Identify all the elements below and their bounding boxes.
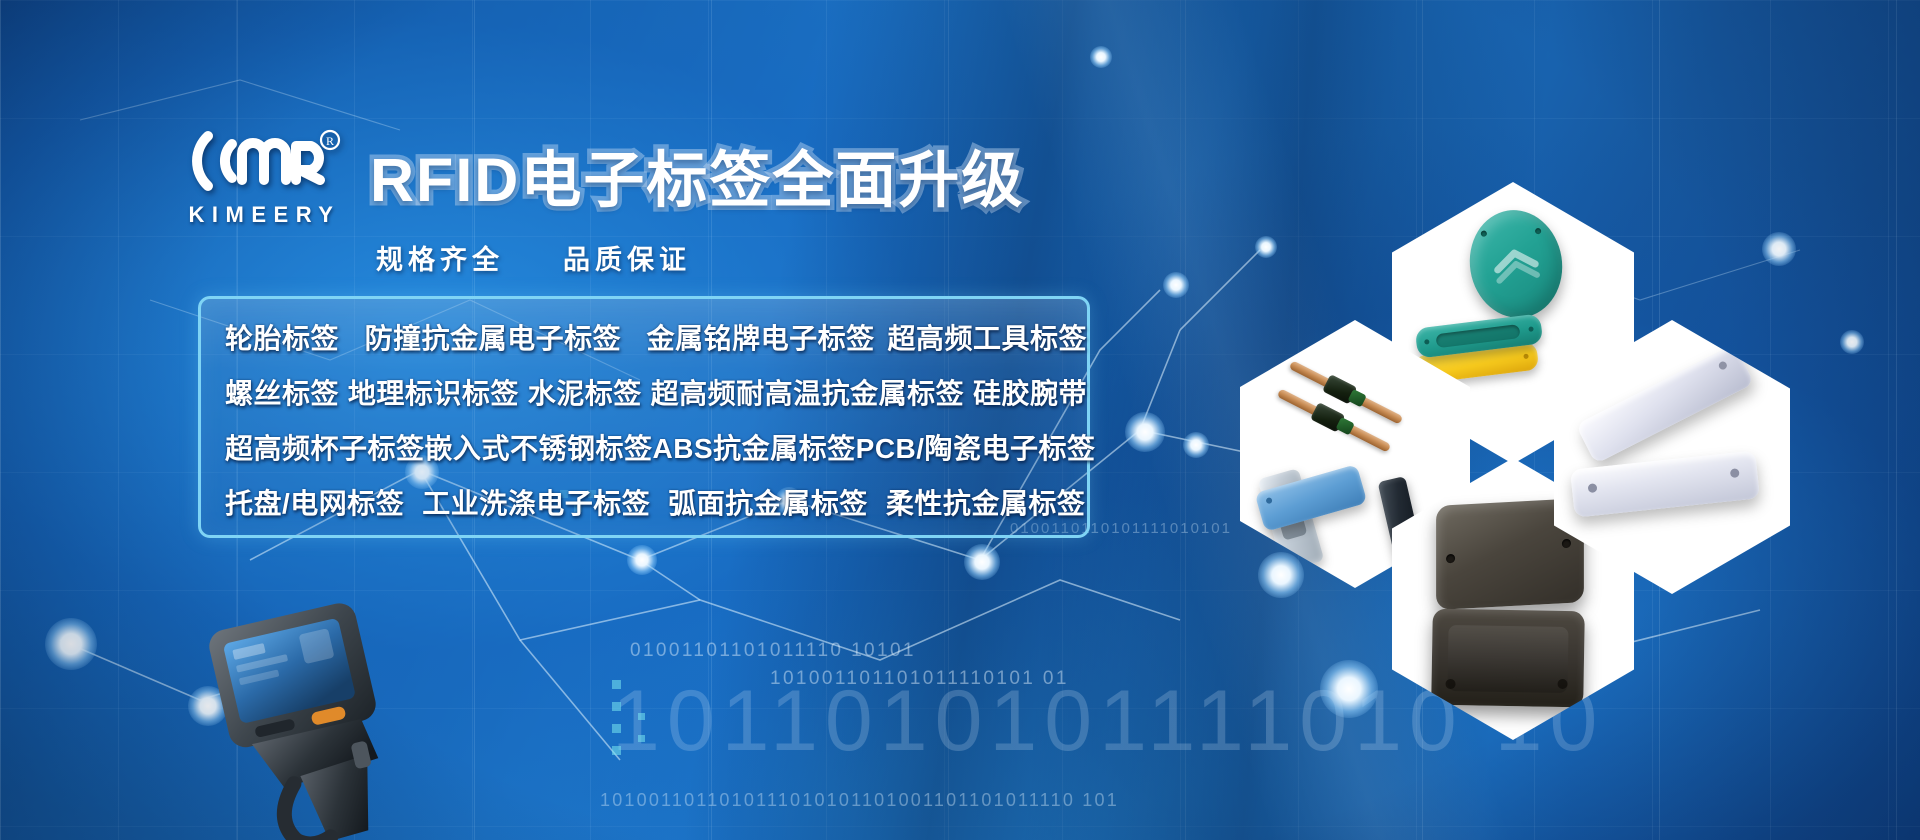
glass-tube-tag <box>1289 360 1404 424</box>
kimeery-wave-logo-icon: R <box>180 124 345 198</box>
tag-item: 硅胶腕带 <box>973 372 1087 412</box>
chevron-up-icon <box>1491 244 1542 285</box>
tag-row: 螺丝标签 地理标识标签 水泥标签 超高频耐高温抗金属标签 硅胶腕带 <box>201 364 1087 419</box>
registered-mark-icon: R <box>321 131 339 149</box>
page-title: RFID电子标签全面升级 <box>370 130 1024 219</box>
teal-round-tag <box>1462 203 1570 324</box>
tag-item: 地理标识标签 <box>348 372 519 412</box>
rfid-promo-banner: 1011010101111010 10 01001101101011110 10… <box>0 0 1920 840</box>
svg-text:R: R <box>325 134 333 148</box>
glow-node <box>1320 660 1378 718</box>
tag-item: 工业洗涤电子标签 <box>422 482 650 522</box>
hero-content: R KIMEERY RFID电子标签全面升级 规格齐全 品质保证 轮胎标签 防撞… <box>0 0 1200 840</box>
hero-subtitle-right: 品质保证 <box>563 245 691 275</box>
brand-logo-block: R KIMEERY <box>172 124 352 228</box>
tag-item: 螺丝标签 <box>225 372 339 412</box>
hero-subtitle: 规格齐全 品质保证 <box>376 238 691 277</box>
tag-item: 超高频工具标签 <box>887 317 1087 357</box>
brand-wordmark: KIMEERY <box>172 202 352 228</box>
tag-item: 金属铭牌电子标签 <box>647 317 875 357</box>
product-hexagon-cluster <box>1224 182 1884 632</box>
tag-item: 托盘/电网标签 <box>225 482 404 522</box>
tag-item: 嵌入式不锈钢标签 <box>425 427 653 467</box>
dark-plate-small <box>1431 609 1585 708</box>
tag-item: 水泥标签 <box>528 372 642 412</box>
glass-tube-tag <box>1277 388 1392 452</box>
tag-item: 弧面抗金属标签 <box>668 482 868 522</box>
tag-item: 轮胎标签 <box>225 317 339 357</box>
handheld-rfid-reader <box>190 600 450 840</box>
tag-item: 防撞抗金属电子标签 <box>365 317 622 357</box>
tag-item: 超高频杯子标签 <box>225 427 425 467</box>
tag-item: 柔性抗金属标签 <box>886 482 1086 522</box>
tag-item: ABS抗金属标签 <box>653 427 856 467</box>
tag-item: 超高频耐高温抗金属标签 <box>651 372 965 412</box>
product-tag-panel: 轮胎标签 防撞抗金属电子标签 金属铭牌电子标签 超高频工具标签 螺丝标签 地理标… <box>198 296 1090 538</box>
hero-subtitle-left: 规格齐全 <box>376 245 504 275</box>
white-bar-tag-upper <box>1576 344 1755 464</box>
tag-row: 托盘/电网标签 工业洗涤电子标签 弧面抗金属标签 柔性抗金属标签 <box>201 474 1087 529</box>
tag-row: 超高频杯子标签 嵌入式不锈钢标签 ABS抗金属标签 PCB/陶瓷电子标签 <box>201 419 1087 474</box>
tag-row: 轮胎标签 防撞抗金属电子标签 金属铭牌电子标签 超高频工具标签 <box>201 309 1087 364</box>
tag-item: PCB/陶瓷电子标签 <box>856 427 1096 467</box>
